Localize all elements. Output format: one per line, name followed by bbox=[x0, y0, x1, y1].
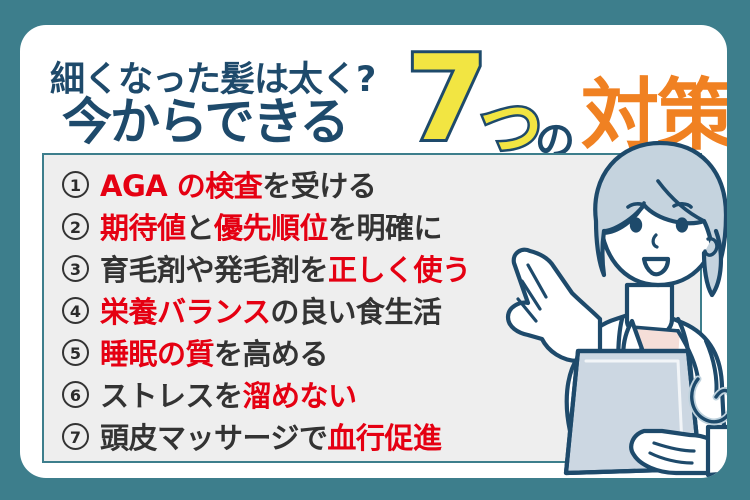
emphasis-text: AGA の検査 bbox=[100, 169, 262, 203]
emphasis-text: 溜めない bbox=[243, 379, 357, 413]
headline-line-2: 今からできる bbox=[62, 97, 348, 147]
emphasis-text: 期待値 bbox=[100, 211, 186, 245]
list-item-text: ストレスを溜めない bbox=[100, 373, 357, 415]
list-item-number: 2 bbox=[62, 213, 89, 240]
emphasis-text: 栄養バランス bbox=[100, 295, 270, 329]
emphasis-text: 血行促進 bbox=[327, 421, 441, 455]
female-doctor-illustration bbox=[482, 135, 727, 478]
emphasis-text: 優先順位 bbox=[214, 211, 328, 245]
list-item-number: 5 bbox=[62, 339, 89, 366]
plain-text: を明確に bbox=[328, 211, 442, 245]
emphasis-text: 正しく使う bbox=[328, 253, 471, 287]
plain-text: ストレスを bbox=[100, 379, 243, 413]
headline-number-7: 7 bbox=[406, 39, 488, 157]
plain-text: の良い食生活 bbox=[270, 295, 441, 329]
list-item-number: 3 bbox=[62, 255, 89, 282]
plain-text: を高める bbox=[214, 337, 328, 371]
list-item-text: 育毛剤や発毛剤を正しく使う bbox=[100, 247, 471, 289]
list-item-number: 4 bbox=[62, 297, 89, 324]
list-item-number: 7 bbox=[62, 423, 89, 450]
list-item-text: AGA の検査を受ける bbox=[100, 163, 376, 205]
emphasis-text: 睡眠の質 bbox=[100, 337, 214, 371]
content-card: 細くなった髪は太く? 今からできる 7 つ の 対策 1AGA の検査を受ける2… bbox=[20, 25, 727, 478]
plain-text: と bbox=[186, 211, 215, 245]
plain-text: 頭皮マッサージで bbox=[100, 421, 327, 455]
plain-text: 育毛剤や発毛剤を bbox=[100, 253, 328, 287]
list-item-text: 栄養バランスの良い食生活 bbox=[100, 289, 441, 331]
list-item-text: 期待値と優先順位を明確に bbox=[100, 205, 442, 247]
list-item-number: 6 bbox=[62, 381, 89, 408]
poster-canvas: 細くなった髪は太く? 今からできる 7 つ の 対策 1AGA の検査を受ける2… bbox=[0, 0, 750, 500]
list-item-text: 頭皮マッサージで血行促進 bbox=[100, 415, 441, 457]
plain-text: を受ける bbox=[262, 169, 376, 203]
list-item-number: 1 bbox=[62, 171, 89, 198]
list-item-text: 睡眠の質を高める bbox=[100, 331, 328, 373]
